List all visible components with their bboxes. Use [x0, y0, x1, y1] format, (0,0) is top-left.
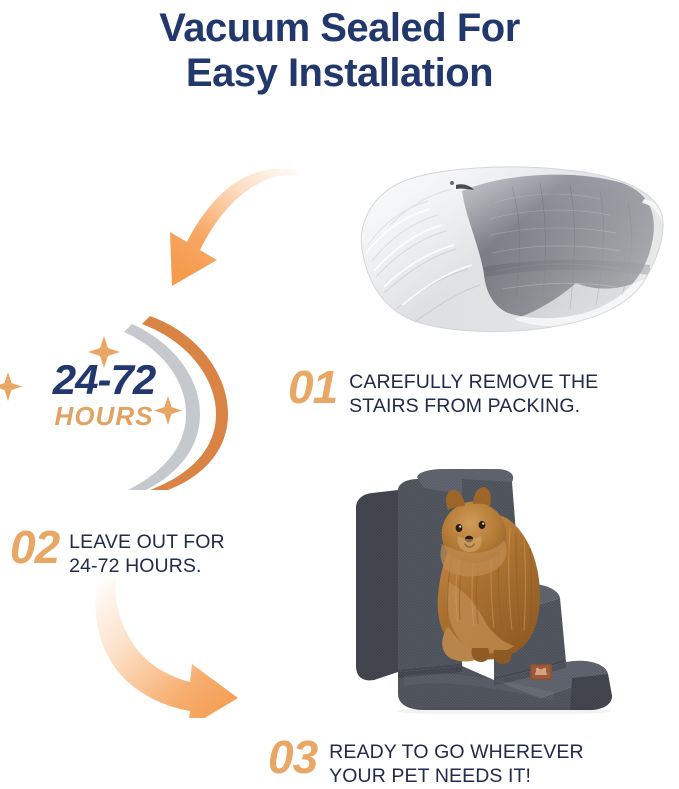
step-number-02: 02: [10, 526, 59, 568]
pomeranian-dog: [438, 487, 540, 664]
step-text-02: LEAVE OUT FOR 24-72 HOURS.: [69, 526, 225, 578]
duration-badge: 24-72 HOURS: [0, 310, 270, 490]
step-item-02: 02 LEAVE OUT FOR 24-72 HOURS.: [10, 526, 225, 578]
step-text-01-line-1: CAREFULLY REMOVE THE: [349, 370, 598, 394]
step-item-01: 01 CAREFULLY REMOVE THE STAIRS FROM PACK…: [288, 366, 598, 418]
step-number-03: 03: [268, 736, 317, 778]
arrow-down-right-icon: [92, 578, 277, 718]
arrow-down-left-icon: [150, 168, 300, 296]
step-item-03: 03 READY TO GO WHEREVER YOUR PET NEEDS I…: [268, 736, 584, 788]
badge-text-group: 24-72 HOURS: [14, 358, 194, 430]
badge-duration-number: 24-72: [14, 358, 194, 402]
brand-logo-patch: [530, 664, 552, 680]
step-text-02-line-1: LEAVE OUT FOR: [69, 530, 225, 554]
step-number-01: 01: [288, 366, 337, 408]
step-text-03-line-1: READY TO GO WHEREVER: [329, 740, 583, 764]
step-text-03-line-2: YOUR PET NEEDS IT!: [329, 764, 583, 788]
step-text-03: READY TO GO WHEREVER YOUR PET NEEDS IT!: [329, 736, 583, 788]
step-text-02-line-2: 24-72 HOURS.: [69, 554, 225, 578]
infographic-page: Vacuum Sealed For Easy Installation: [0, 0, 679, 789]
page-title: Vacuum Sealed For Easy Installation: [0, 6, 679, 96]
step-text-01: CAREFULLY REMOVE THE STAIRS FROM PACKING…: [349, 366, 598, 418]
badge-duration-unit: HOURS: [14, 402, 194, 430]
page-title-line-2: Easy Installation: [0, 51, 679, 96]
step-text-01-line-2: STAIRS FROM PACKING.: [349, 394, 598, 418]
pet-stairs-with-dog-photo: [344, 466, 664, 714]
page-title-line-1: Vacuum Sealed For: [0, 6, 679, 51]
vacuum-sealed-package-photo: [344, 163, 669, 335]
